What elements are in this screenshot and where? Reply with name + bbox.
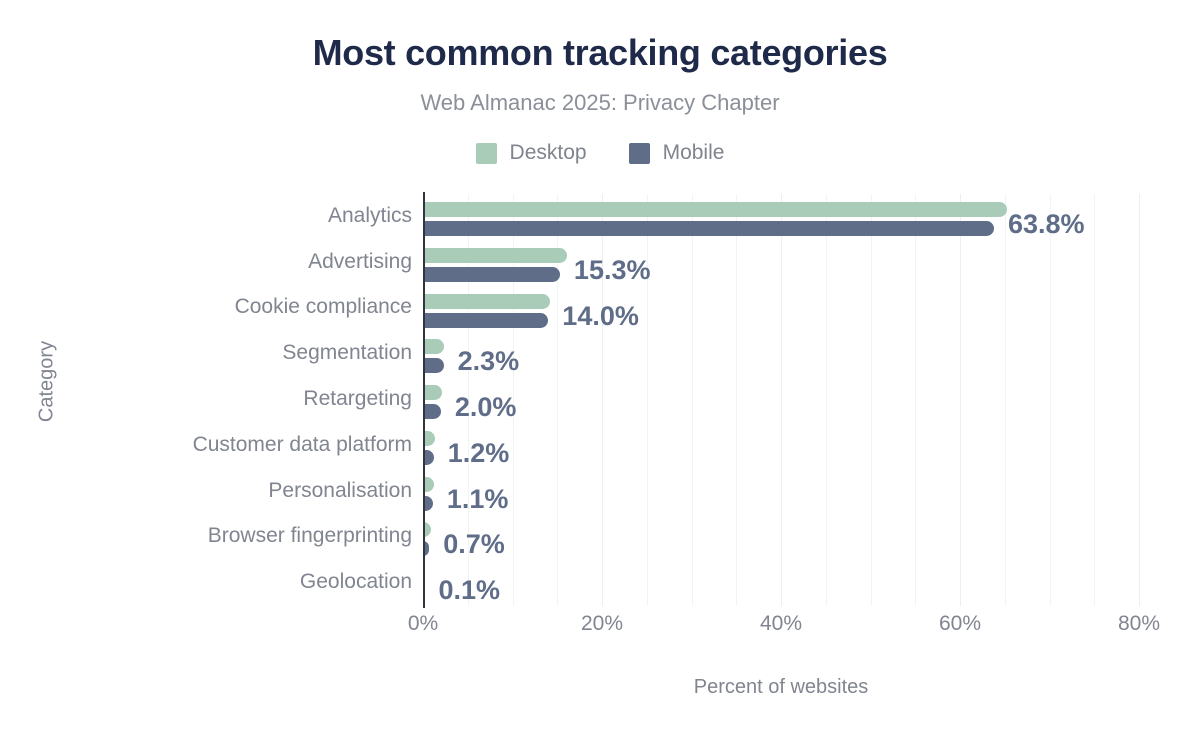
x-tick-label: 80% [1118, 612, 1160, 636]
gridline [1139, 194, 1140, 606]
bar-desktop[interactable] [423, 385, 442, 400]
bar-desktop[interactable] [423, 294, 550, 309]
legend-item-label: Desktop [510, 141, 587, 165]
bar-group: 1.1% [423, 477, 1139, 523]
category-tick-labels: AnalyticsAdvertisingCookie complianceSeg… [0, 194, 412, 606]
bar-value-label: 2.0% [455, 392, 517, 423]
x-tick-label: 40% [760, 612, 802, 636]
bar-value-label: 1.2% [448, 438, 510, 469]
bar-value-label: 2.3% [458, 346, 520, 377]
bar-value-label: 63.8% [1008, 209, 1085, 240]
category-label: Segmentation [0, 341, 412, 365]
x-tick-label: 20% [581, 612, 623, 636]
bar-mobile[interactable] [423, 221, 994, 236]
bar-group: 15.3% [423, 248, 1139, 294]
bar-value-label: 15.3% [574, 255, 651, 286]
category-label: Cookie compliance [0, 295, 412, 319]
legend-item-label: Mobile [663, 141, 725, 165]
x-axis-title: Percent of websites [423, 676, 1139, 699]
bar-group: 63.8% [423, 202, 1139, 248]
y-axis-title: Category [36, 322, 59, 442]
bar-group: 14.0% [423, 294, 1139, 340]
chart-title: Most common tracking categories [0, 32, 1200, 74]
category-label: Customer data platform [0, 433, 412, 457]
bar-value-label: 0.7% [443, 529, 505, 560]
bar-mobile[interactable] [423, 313, 548, 328]
category-label: Retargeting [0, 387, 412, 411]
bar-value-label: 14.0% [562, 301, 639, 332]
category-label: Personalisation [0, 479, 412, 503]
bar-group: 0.7% [423, 522, 1139, 568]
legend-swatch-icon [629, 143, 650, 164]
x-tick-label: 0% [408, 612, 438, 636]
legend-item-desktop[interactable]: Desktop [476, 141, 587, 165]
chart-subtitle: Web Almanac 2025: Privacy Chapter [0, 90, 1200, 116]
bar-desktop[interactable] [423, 248, 567, 263]
bar-desktop[interactable] [423, 202, 1007, 217]
category-label: Geolocation [0, 570, 412, 594]
chart-legend: DesktopMobile [0, 141, 1200, 165]
x-axis-tick-labels: 0%20%40%60%80% [423, 612, 1139, 642]
bar-group: 1.2% [423, 431, 1139, 477]
category-label: Browser fingerprinting [0, 524, 412, 548]
legend-item-mobile[interactable]: Mobile [629, 141, 725, 165]
legend-swatch-icon [476, 143, 497, 164]
category-label: Advertising [0, 250, 412, 274]
x-tick-label: 60% [939, 612, 981, 636]
bar-value-label: 0.1% [439, 575, 501, 606]
bar-group: 0.1% [423, 568, 1139, 614]
plot-area: 63.8%15.3%14.0%2.3%2.0%1.2%1.1%0.7%0.1% [423, 194, 1139, 606]
bar-mobile[interactable] [423, 404, 441, 419]
bar-group: 2.0% [423, 385, 1139, 431]
bar-value-label: 1.1% [447, 484, 509, 515]
bar-desktop[interactable] [423, 339, 444, 354]
bar-group: 2.3% [423, 339, 1139, 385]
bar-chart: Most common tracking categories Web Alma… [0, 0, 1200, 742]
bar-mobile[interactable] [423, 358, 444, 373]
category-label: Analytics [0, 204, 412, 228]
y-axis-line [423, 192, 425, 608]
bar-mobile[interactable] [423, 267, 560, 282]
